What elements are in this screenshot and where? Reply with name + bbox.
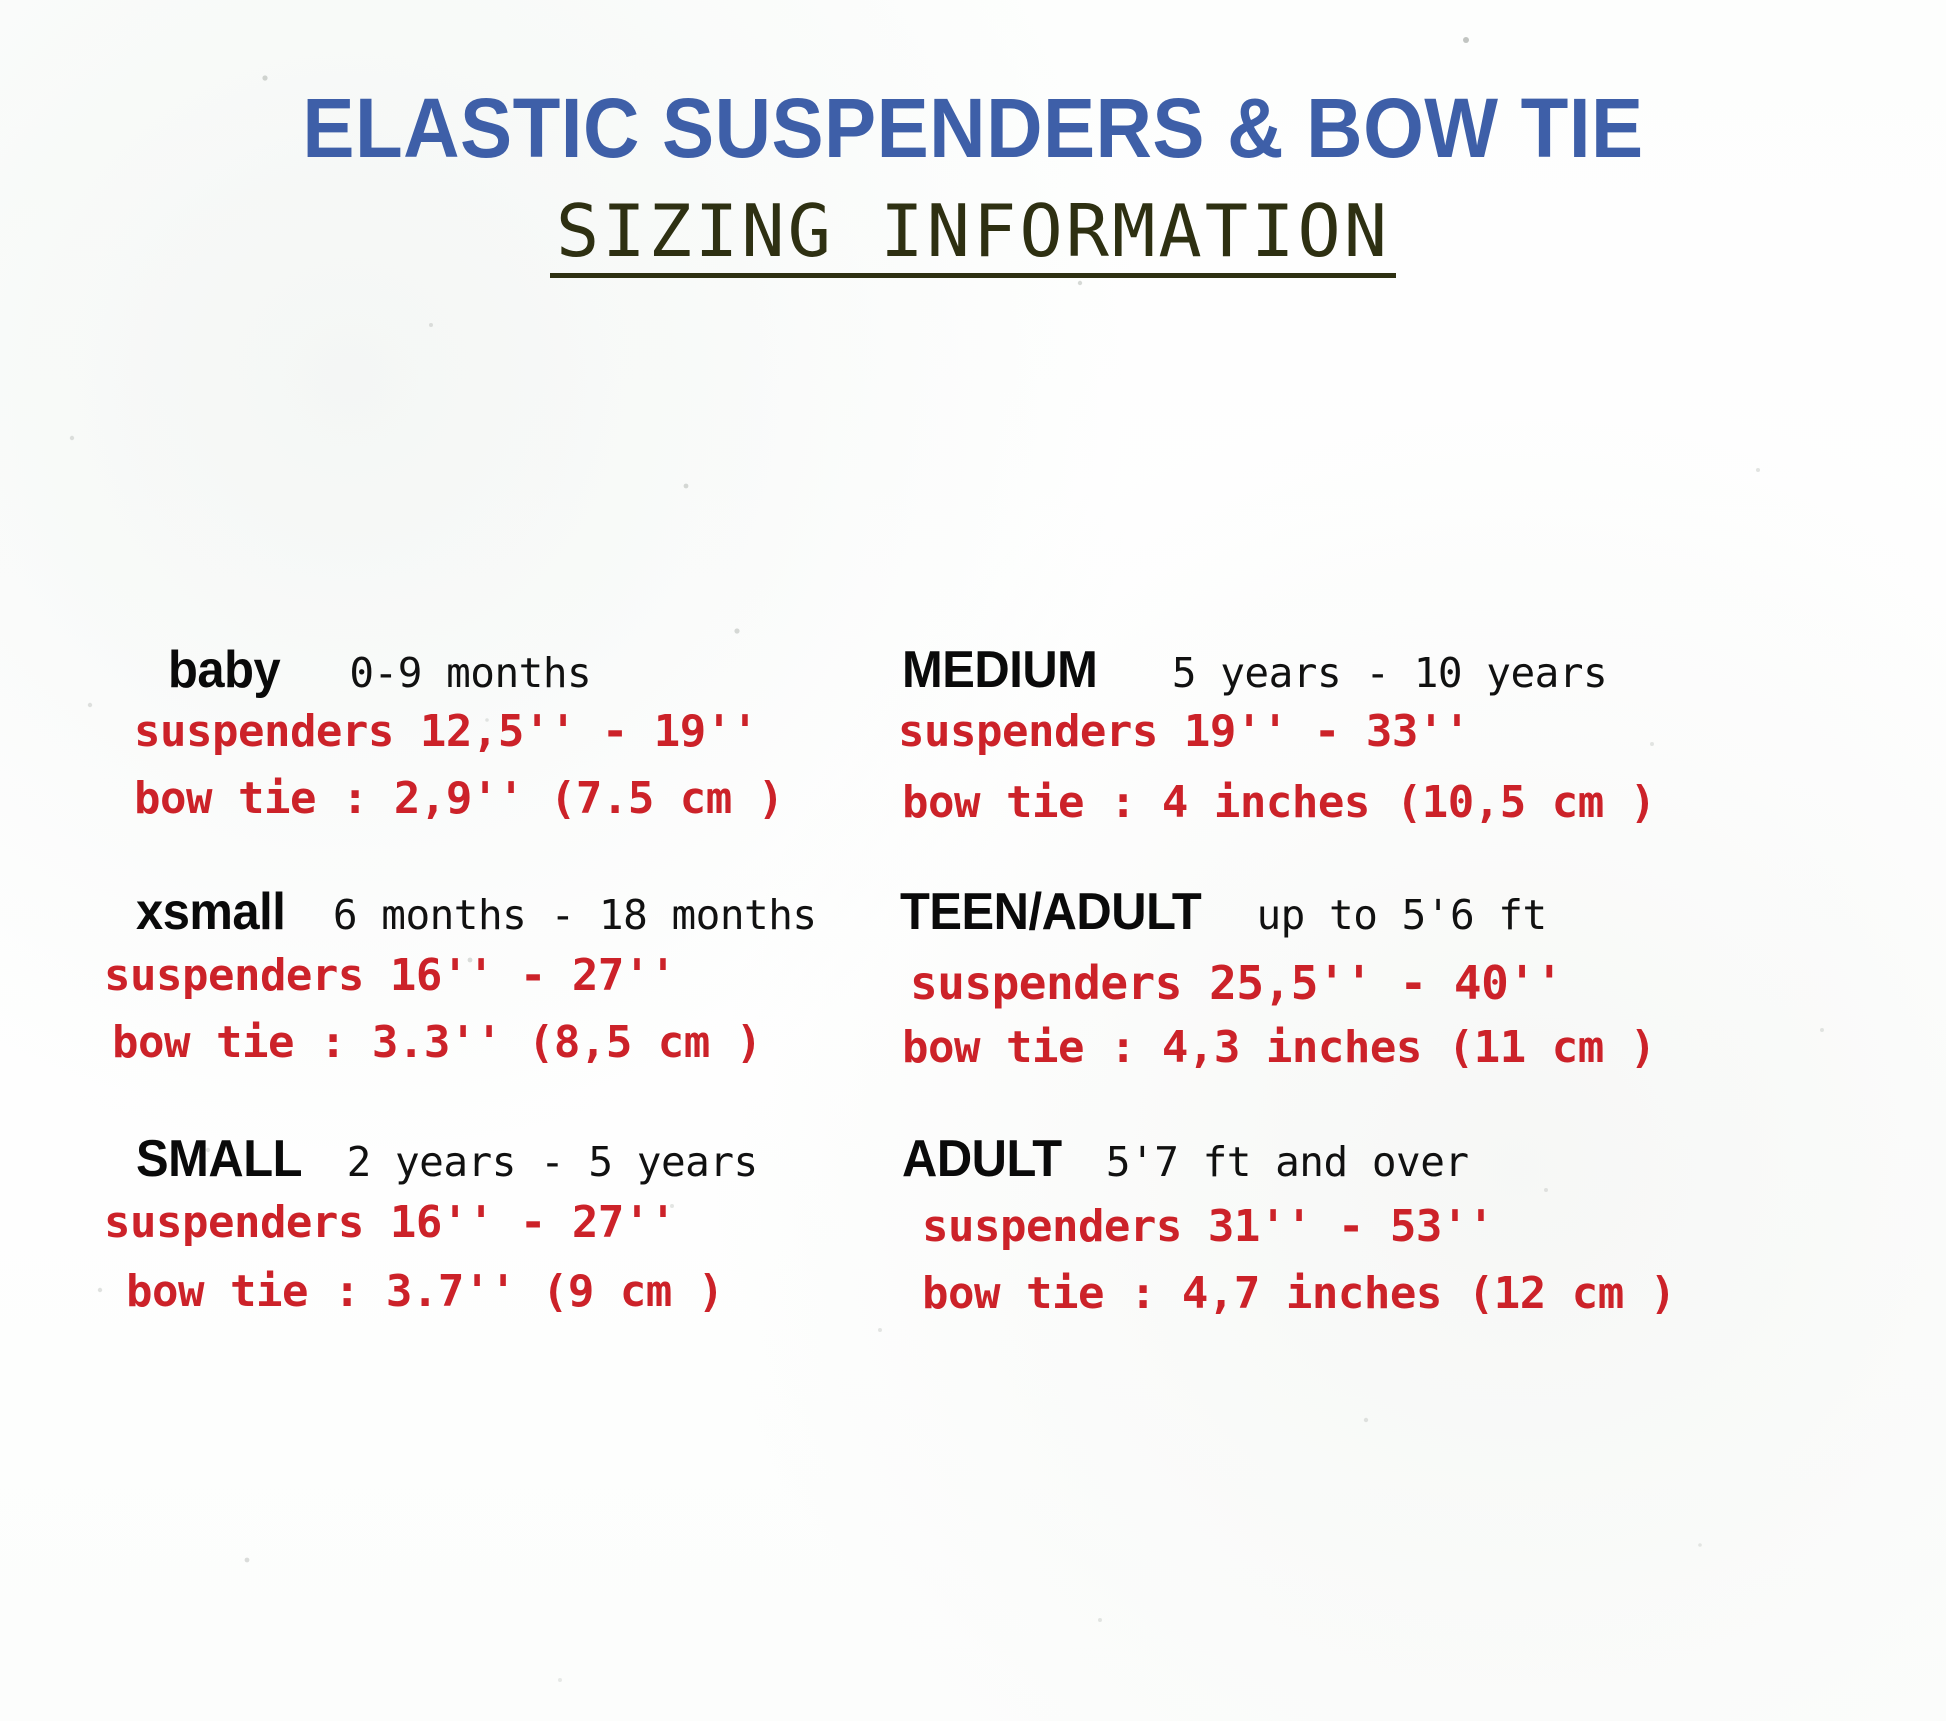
size-block-medium: MEDIUM 5 years - 10 years suspenders 19'… <box>880 640 1946 878</box>
age-range-xsmall: 6 months - 18 months <box>333 891 817 939</box>
size-block-small-heading: SMALL 2 years - 5 years <box>136 1129 880 1189</box>
age-range-adult: 5'7 ft and over <box>1106 1138 1469 1186</box>
size-block-xsmall-heading: xsmall 6 months - 18 months <box>136 882 880 942</box>
size-block-xsmall: xsmall 6 months - 18 months suspenders 1… <box>0 878 880 1121</box>
size-name-baby: baby <box>168 640 280 700</box>
size-block-medium-heading: MEDIUM 5 years - 10 years <box>902 640 1946 700</box>
suspenders-measurement-medium: suspenders 19'' - 33'' <box>898 706 1946 757</box>
size-name-teen-adult: TEEN/ADULT <box>900 882 1201 942</box>
size-block-teen-adult-heading: TEEN/ADULT up to 5'6 ft <box>900 882 1946 942</box>
size-name-small: SMALL <box>136 1129 302 1189</box>
size-block-adult-heading: ADULT 5'7 ft and over <box>902 1129 1946 1189</box>
bow-tie-measurement-adult: bow tie : 4,7 inches (12 cm ) <box>922 1268 1946 1319</box>
size-name-xsmall: xsmall <box>136 882 285 942</box>
sizing-chart-page: ELASTIC SUSPENDERS & BOW TIE SIZING INFO… <box>0 0 1946 1721</box>
size-chart-grid: baby 0-9 months suspenders 12,5'' - 19''… <box>0 640 1946 1359</box>
size-name-medium: MEDIUM <box>902 640 1097 700</box>
size-name-adult: ADULT <box>902 1129 1062 1189</box>
suspenders-measurement-teen-adult: suspenders 25,5'' - 40'' <box>910 956 1946 1010</box>
bow-tie-measurement-medium: bow tie : 4 inches (10,5 cm ) <box>902 777 1946 828</box>
page-title: ELASTIC SUSPENDERS & BOW TIE <box>68 86 1878 170</box>
age-range-small: 2 years - 5 years <box>347 1138 758 1186</box>
size-block-baby-heading: baby 0-9 months <box>168 640 880 700</box>
page-subtitle-wrapper: SIZING INFORMATION <box>0 194 1946 278</box>
chart-header: ELASTIC SUSPENDERS & BOW TIE SIZING INFO… <box>0 86 1946 278</box>
size-block-baby: baby 0-9 months suspenders 12,5'' - 19''… <box>0 640 880 878</box>
bow-tie-measurement-baby: bow tie : 2,9'' (7.5 cm ) <box>134 773 880 824</box>
suspenders-measurement-adult: suspenders 31'' - 53'' <box>922 1201 1946 1252</box>
size-block-small: SMALL 2 years - 5 years suspenders 16'' … <box>0 1121 880 1359</box>
size-block-adult: ADULT 5'7 ft and over suspenders 31'' - … <box>880 1121 1946 1359</box>
bow-tie-measurement-teen-adult: bow tie : 4,3 inches (11 cm ) <box>902 1022 1946 1073</box>
age-range-baby: 0-9 months <box>349 649 591 697</box>
bow-tie-measurement-small: bow tie : 3.7'' (9 cm ) <box>126 1266 880 1317</box>
age-range-teen-adult: up to 5'6 ft <box>1256 891 1546 939</box>
size-block-teen-adult: TEEN/ADULT up to 5'6 ft suspenders 25,5'… <box>880 878 1946 1121</box>
suspenders-measurement-small: suspenders 16'' - 27'' <box>104 1197 880 1248</box>
suspenders-measurement-baby: suspenders 12,5'' - 19'' <box>134 706 880 757</box>
suspenders-measurement-xsmall: suspenders 16'' - 27'' <box>104 950 880 1001</box>
page-subtitle: SIZING INFORMATION <box>550 194 1396 278</box>
age-range-medium: 5 years - 10 years <box>1172 649 1607 697</box>
bow-tie-measurement-xsmall: bow tie : 3.3'' (8,5 cm ) <box>112 1017 880 1068</box>
